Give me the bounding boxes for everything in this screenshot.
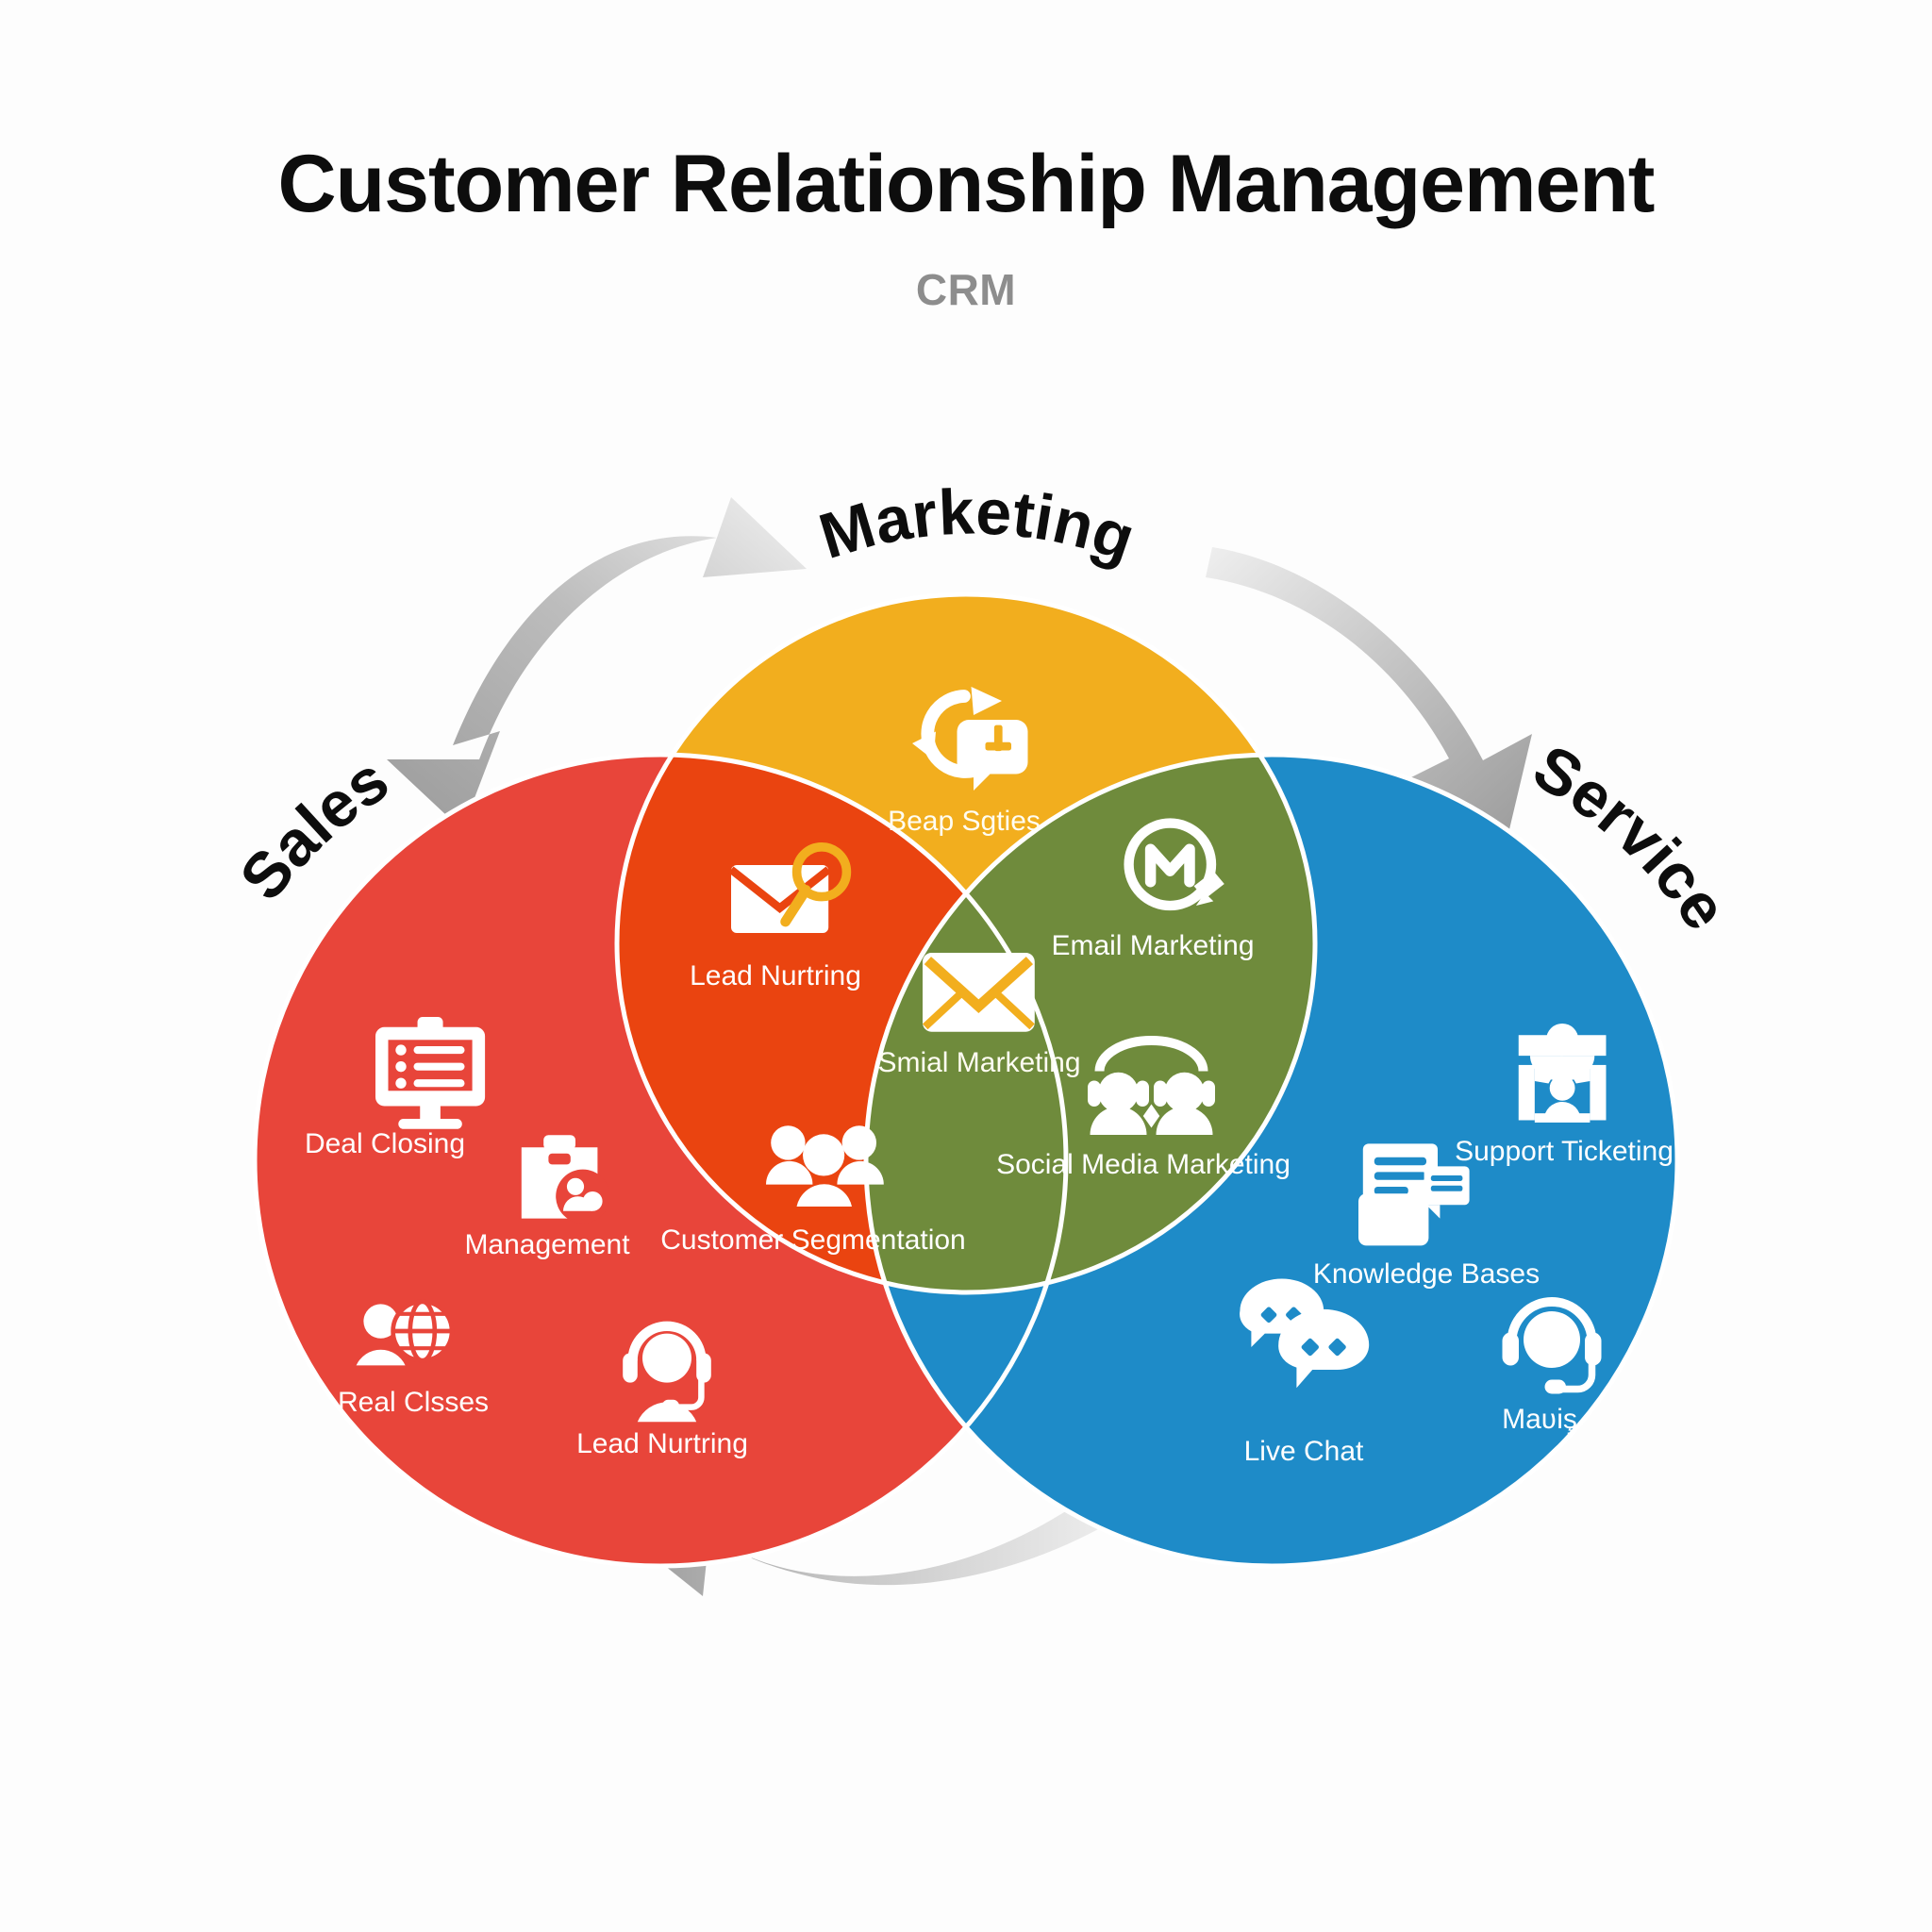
item-label: Customer Segmentation bbox=[660, 1224, 966, 1256]
item-label: Email Marketing bbox=[1051, 930, 1254, 961]
ticket-people-icon bbox=[1519, 1024, 1607, 1123]
briefcase-person-icon bbox=[522, 1135, 610, 1224]
item-label: Live Chat bbox=[1244, 1436, 1364, 1467]
venn-diagram: Sales Marketing Service bbox=[0, 0, 1932, 1932]
ring-label-marketing: Marketing bbox=[811, 475, 1143, 575]
item-label: Smial Marketing bbox=[877, 1047, 1080, 1078]
item-label: Social Media Marketing bbox=[996, 1149, 1291, 1180]
item-label: Support Ticketing bbox=[1455, 1136, 1674, 1167]
item-label: Lead Nurtring bbox=[690, 960, 861, 991]
item-label: Deal Closing bbox=[305, 1128, 465, 1159]
item-label: Management bbox=[464, 1229, 630, 1260]
envelope-icon bbox=[923, 953, 1035, 1032]
item-label: Beap Sgties bbox=[888, 806, 1041, 837]
item-label: Maʋiş bbox=[1502, 1404, 1577, 1435]
item-label: Real Clsses bbox=[338, 1387, 489, 1418]
item-label: Lead Nurtring bbox=[576, 1428, 748, 1459]
item-label: Knowledge Bases bbox=[1313, 1258, 1540, 1290]
person-globe-icon bbox=[357, 1302, 452, 1366]
infographic-canvas: Customer Relationship Management CRM bbox=[0, 0, 1932, 1932]
